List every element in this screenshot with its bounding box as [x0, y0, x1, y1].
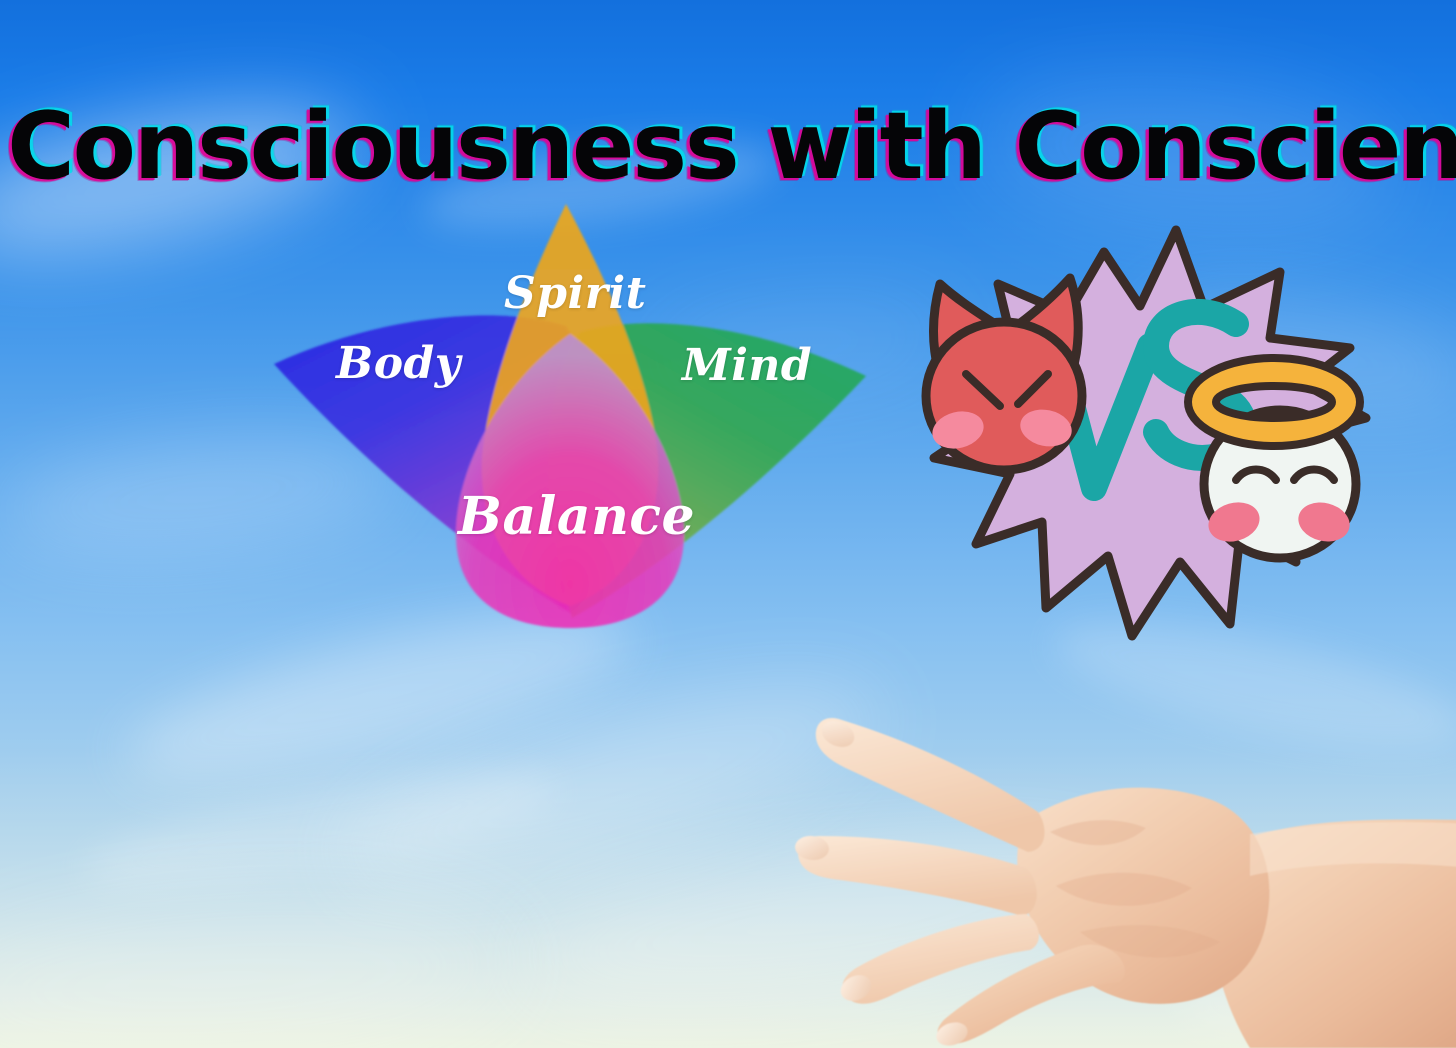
page-title: Consciousness with Conscience	[7, 100, 1448, 193]
angel-character	[1188, 358, 1360, 558]
hand-photo	[780, 700, 1456, 1048]
lotus-venn-diagram: Spirit Body Mind Balance	[258, 186, 882, 646]
poster-canvas: Consciousness with Conscience	[0, 0, 1456, 1048]
devil-vs-angel-illustration	[918, 222, 1370, 650]
hand-shape	[794, 716, 1456, 1048]
